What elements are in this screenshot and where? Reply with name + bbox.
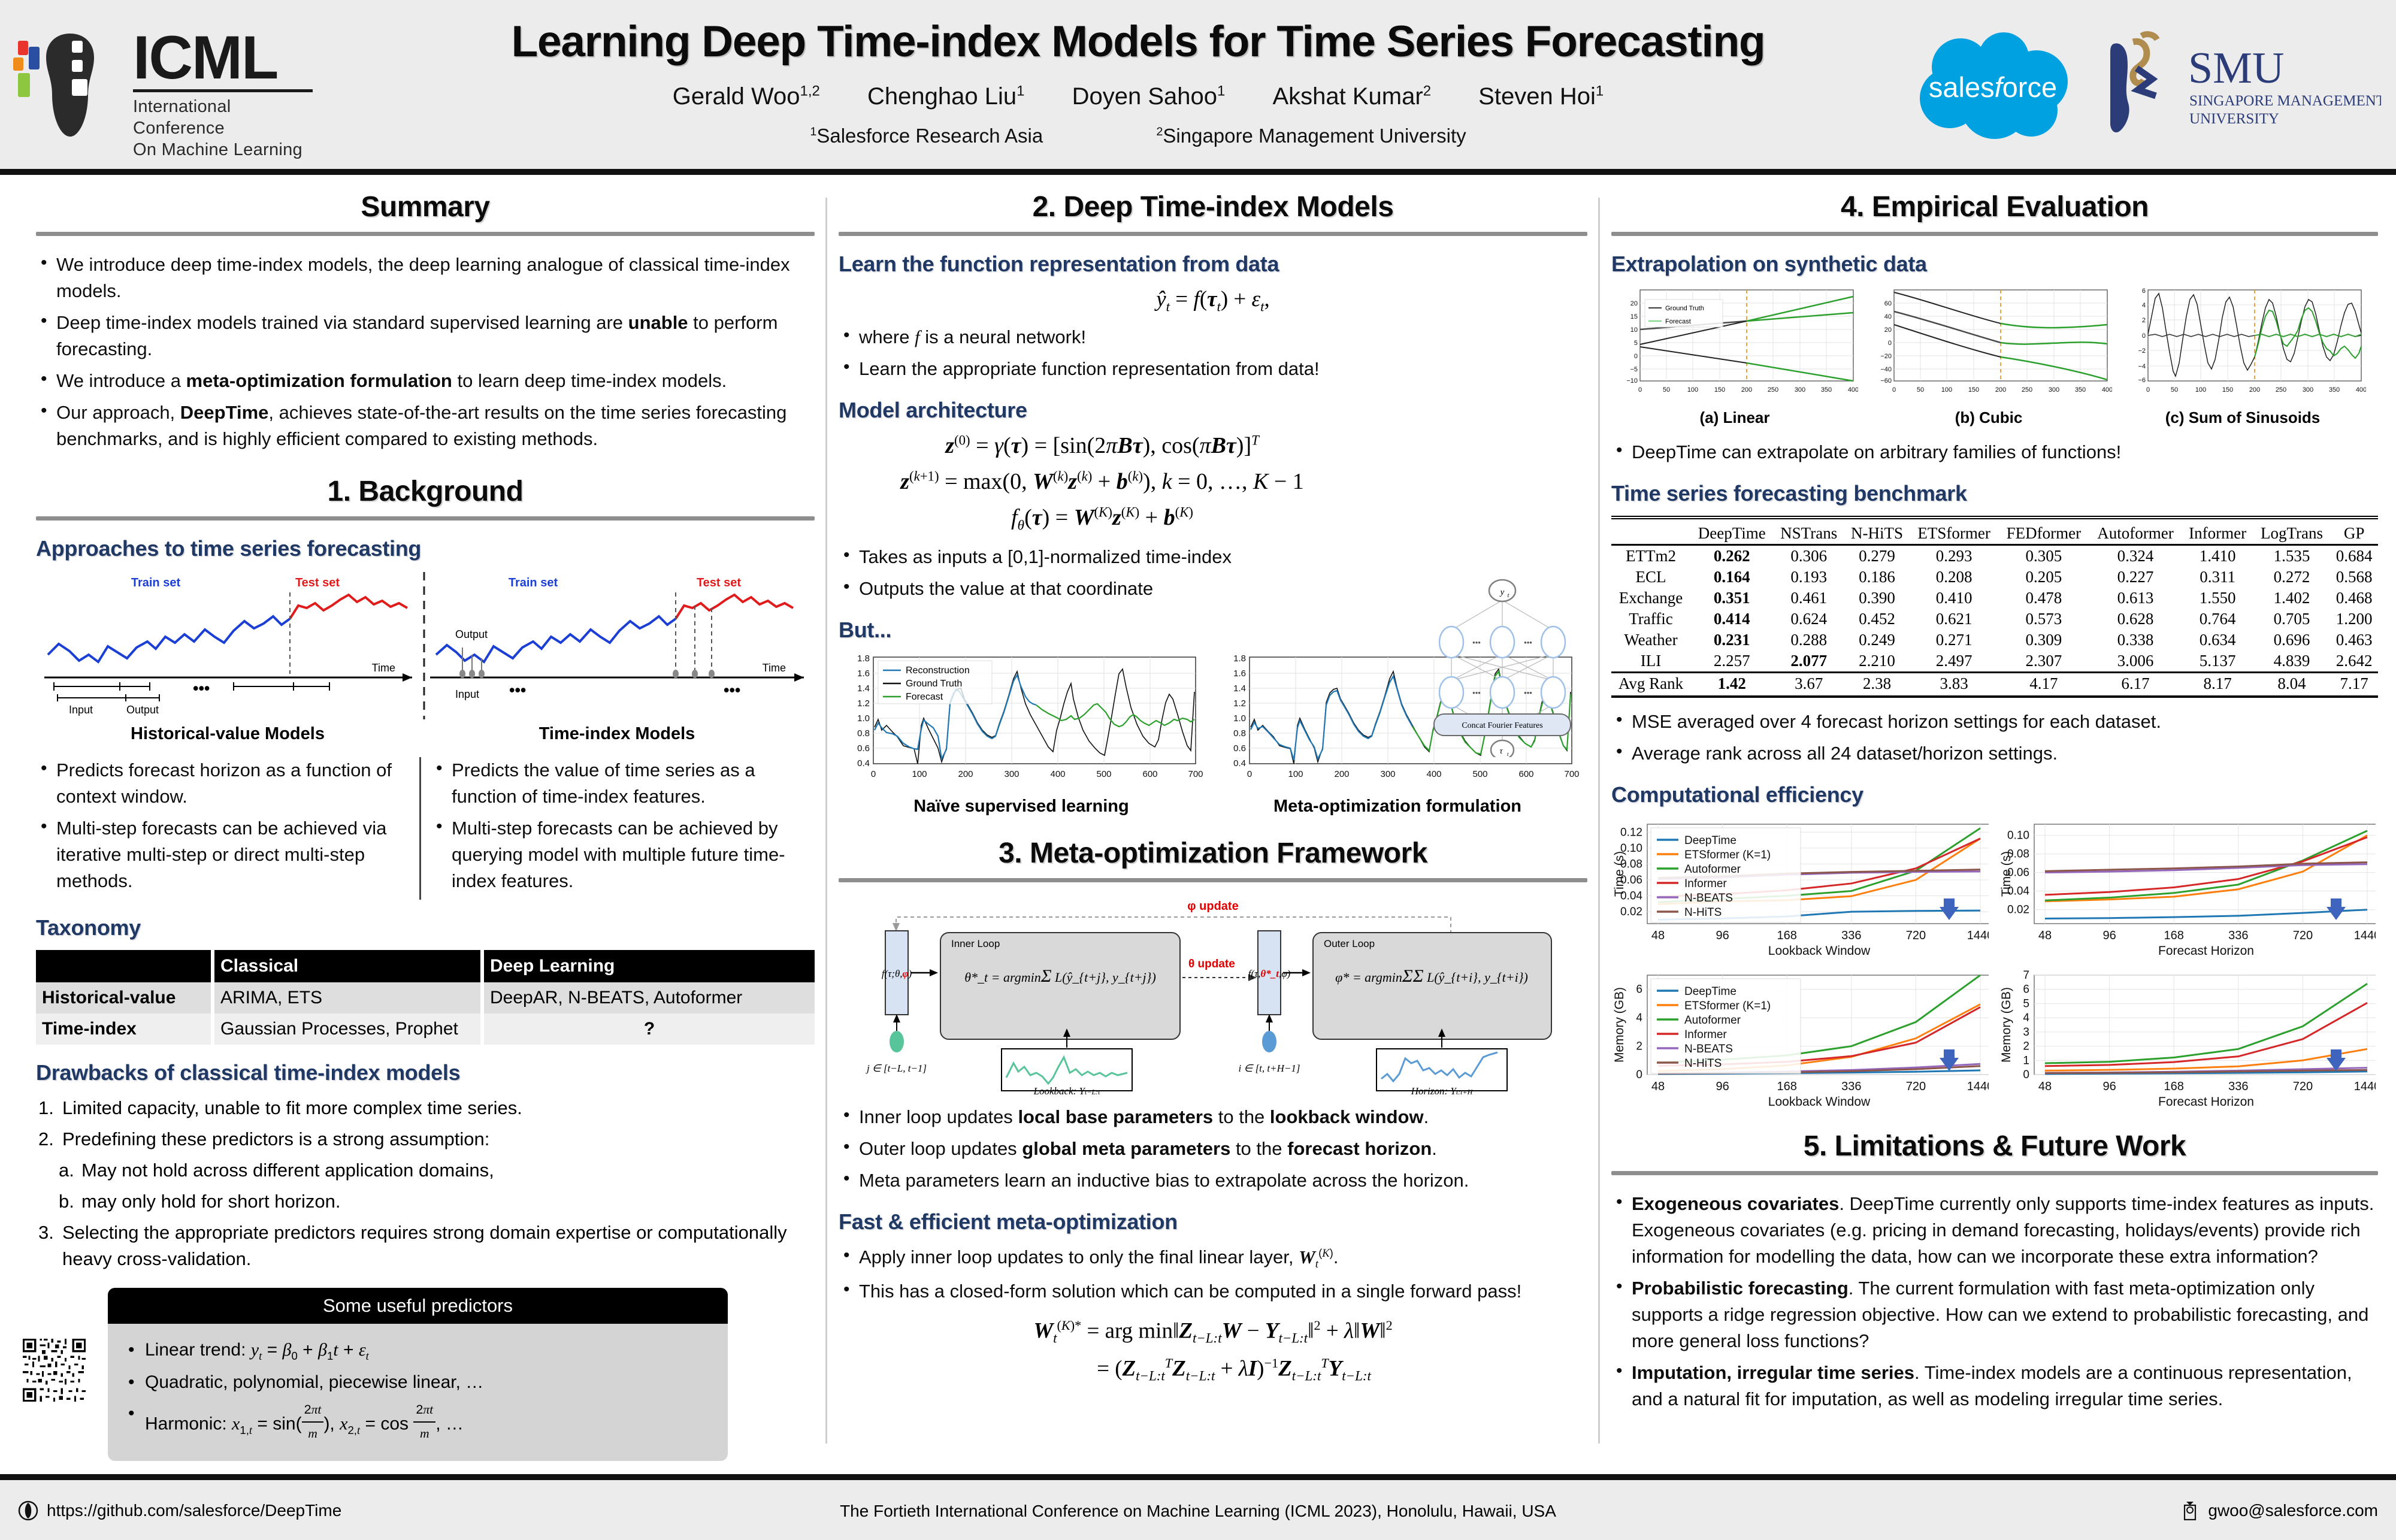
input-label: Input: [455, 688, 479, 700]
svg-text:600: 600: [1518, 769, 1533, 779]
table-row: ETTm20.2620.3060.2790.2930.3050.3241.410…: [1611, 545, 2378, 567]
list-item: Probabilistic forecasting. The current f…: [1611, 1275, 2378, 1354]
svg-text:50: 50: [1917, 386, 1924, 394]
svg-text:1.6: 1.6: [1233, 668, 1246, 679]
svg-text:400: 400: [1848, 386, 1858, 394]
svg-text:−5: −5: [1630, 366, 1638, 373]
column-header: Informer: [2182, 523, 2253, 545]
list-item: 1.Limited capacity, unable to fit more c…: [36, 1095, 815, 1121]
x-axis-label: Forecast Horizon: [2158, 1095, 2254, 1109]
svg-text:500: 500: [1096, 769, 1111, 779]
y-tick-label: 4: [2023, 1012, 2029, 1024]
x-tick-label: 96: [2102, 929, 2116, 942]
equation-zk: z(k+1) = max(0, W(k)z(k) + b(k)), k = 0,…: [839, 468, 1366, 495]
concat-fourier-features-label: Concat Fourier Features: [1462, 721, 1542, 730]
list-item: Quadratic, polynomial, piecewise linear,…: [121, 1367, 715, 1399]
y-tick-label: 6: [1636, 984, 1642, 996]
svg-text:SMU: SMU: [2188, 44, 2284, 93]
legend-forecast: Forecast: [906, 692, 943, 702]
list-item: DeepTime can extrapolate on arbitrary fa…: [1611, 439, 2378, 465]
equation-ftheta: fθ(τ) = W(K)z(K) + b(K): [839, 504, 1366, 534]
svg-text:6: 6: [2142, 288, 2146, 295]
svg-text:0: 0: [1634, 353, 1638, 360]
poster-footer: https://github.com/salesforce/DeepTime T…: [0, 1474, 2396, 1540]
x-tick-label: 96: [1716, 1080, 1729, 1093]
svg-text:20: 20: [1884, 326, 1892, 334]
network-architecture-diagram: y t ••• ••• ••• ••• Concat Fourier Featu…: [1412, 577, 1592, 757]
x-tick-label: 48: [2038, 1080, 2052, 1093]
background-heading: 1. Background: [36, 475, 815, 508]
svg-text:1.0: 1.0: [857, 713, 870, 724]
svg-text:250: 250: [2276, 386, 2286, 394]
svg-text:0.8: 0.8: [1233, 728, 1246, 739]
x-axis-label: Lookback Window: [1768, 944, 1871, 958]
svg-text:0.6: 0.6: [1233, 743, 1246, 754]
svg-text:350: 350: [2329, 386, 2340, 394]
svg-text:250: 250: [2022, 386, 2032, 394]
contact-email[interactable]: gwoo@salesforce.com: [2180, 1500, 2378, 1521]
y-tick-label: 0: [1636, 1069, 1642, 1081]
output-node-label: y: [1499, 588, 1505, 597]
svg-text:5: 5: [1634, 340, 1638, 347]
svg-text:−40: −40: [1880, 366, 1892, 373]
svg-text:−60: −60: [1880, 377, 1892, 385]
x-tick-label: 1440: [1967, 1080, 1989, 1093]
x-tick-label: 720: [2293, 929, 2313, 942]
svg-text:400: 400: [2102, 386, 2112, 394]
output-label: Output: [455, 628, 488, 640]
qr-code-icon[interactable]: [23, 1339, 86, 1402]
ellipsis: •••: [1524, 638, 1532, 647]
taxonomy-table: Classical Deep Learning Historical-value…: [36, 950, 815, 1045]
train-set-label: Train set: [131, 576, 181, 589]
list-item: Multi-step forecasts can be achieved via…: [36, 815, 399, 894]
svg-text:salesforce: salesforce: [1929, 71, 2057, 103]
svg-text:0: 0: [1892, 386, 1896, 394]
svg-text:250: 250: [1768, 386, 1778, 394]
column-left: Summary We introduce deep time-index mod…: [36, 190, 815, 1461]
svg-text:UNIVERSITY: UNIVERSITY: [2189, 111, 2279, 127]
icml-mark-icon: [13, 23, 127, 143]
learn-bullets: where f is a neural network! Learn the a…: [839, 324, 1587, 382]
legend-ground-truth: Ground Truth: [906, 679, 962, 689]
list-item: Multi-step forecasts can be achieved by …: [431, 815, 803, 894]
y-axis-label: Memory (GB): [1999, 987, 2013, 1063]
equation-main: ŷt = f(τt) + εt,: [839, 286, 1587, 314]
author-list: Gerald Woo1,2 Chenghao Liu1 Doyen Sahoo1…: [419, 83, 1857, 110]
y-tick-label: 5: [2023, 997, 2029, 1010]
limitations-rule: [1611, 1171, 2378, 1175]
legend-entry: N-HiTS: [1684, 906, 1722, 919]
legend-reconstruction: Reconstruction: [906, 665, 970, 676]
row-label: Historical-value: [36, 982, 213, 1013]
svg-text:1.0: 1.0: [1233, 713, 1246, 724]
y-tick-label: 2: [2023, 1040, 2029, 1053]
y-tick-label: 7: [2023, 969, 2029, 982]
cell-classical: Gaussian Processes, Prophet: [213, 1013, 482, 1045]
svg-text:200: 200: [2249, 386, 2260, 394]
time-axis-label: Time: [763, 662, 786, 674]
cell-deep: DeepAR, N-BEATS, Autoformer: [482, 982, 815, 1013]
list-item: b.may only hold for short horizon.: [36, 1188, 815, 1215]
y-tick-label: 6: [2023, 984, 2029, 996]
svg-text:700: 700: [1188, 769, 1203, 779]
drawbacks-subtitle: Drawbacks of classical time-index models: [36, 1060, 815, 1085]
svg-text:−4: −4: [2138, 363, 2146, 370]
svg-text:0: 0: [1888, 340, 1892, 347]
drawbacks-list: 1.Limited capacity, unable to fit more c…: [36, 1095, 815, 1272]
cell-classical: ARIMA, ETS: [213, 982, 482, 1013]
svg-text:300: 300: [1795, 386, 1805, 394]
limitations-bullets: Exogeneous covariates. DeepTime currentl…: [1611, 1191, 2378, 1412]
background-rule: [36, 516, 815, 521]
svg-text:200: 200: [1334, 769, 1349, 779]
y-tick-label: 3: [2023, 1026, 2029, 1039]
svg-text:1.4: 1.4: [857, 683, 870, 694]
svg-text:0.4: 0.4: [857, 758, 870, 769]
x-tick-label: 720: [1906, 1080, 1926, 1093]
svg-text:t: t: [1508, 592, 1509, 599]
table-header-row: DeepTimeNSTrans N-HiTSETSformer FEDforme…: [1611, 523, 2378, 545]
affiliation: 1Salesforce Research Asia: [810, 125, 1043, 147]
y-tick-label: 0.12: [1620, 826, 1642, 839]
author: Akshat Kumar2: [1272, 83, 1431, 110]
meta-chart-caption: Meta-optimization formulation: [1215, 797, 1580, 816]
x-tick-label: 168: [1777, 929, 1797, 942]
ellipsis: •••: [724, 681, 740, 699]
salesforce-logo: salesforce: [1914, 26, 2073, 140]
extrap-caption-a: (a) Linear: [1611, 409, 1858, 427]
table-row: Time-index Gaussian Processes, Prophet ?: [36, 1013, 815, 1045]
svg-text:100: 100: [1288, 769, 1303, 779]
column-header: Deep Learning: [482, 950, 815, 982]
svg-text:300: 300: [2303, 386, 2313, 394]
column-header: NSTrans: [1774, 523, 1844, 545]
column-header: DeepTime: [1690, 523, 1774, 545]
list-item: MSE averaged over 4 forecast horizon set…: [1611, 709, 2378, 735]
inner-loop-label: Inner Loop: [951, 938, 1000, 949]
list-item: Inner loop updates local base parameters…: [839, 1104, 1587, 1130]
list-item: Meta parameters learn an inductive bias …: [839, 1167, 1587, 1194]
affiliation-list: 1Salesforce Research Asia 2Singapore Man…: [419, 125, 1857, 147]
svg-text:−6: −6: [2138, 377, 2146, 384]
svg-text:−20: −20: [1880, 353, 1892, 360]
list-item: Average rank across all 24 dataset/horiz…: [1611, 740, 2378, 767]
meta-bullets: Inner loop updates local base parameters…: [839, 1104, 1587, 1194]
svg-text:0: 0: [1247, 769, 1252, 779]
svg-text:−2: −2: [2138, 347, 2146, 355]
naive-supervised-chart: 1.81.61.4 1.21.00.8 0.60.4 0100200 30040…: [839, 652, 1204, 793]
svg-text:1.6: 1.6: [857, 668, 870, 679]
ellipsis: •••: [1472, 638, 1481, 647]
legend-entry: Autoformer: [1684, 863, 1741, 876]
naive-chart-caption: Naïve supervised learning: [839, 797, 1204, 816]
svg-text:4: 4: [2142, 302, 2146, 309]
legend-entry: N-BEATS: [1684, 892, 1733, 904]
svg-text:100: 100: [1687, 386, 1698, 394]
output-label: Output: [126, 704, 159, 716]
ellipsis: •••: [193, 679, 210, 697]
list-item: Predicts forecast horizon as a function …: [36, 757, 399, 810]
row-label: Time-index: [36, 1013, 213, 1045]
benchmark-notes: MSE averaged over 4 forecast horizon set…: [1611, 709, 2378, 767]
phi-update-label: φ update: [1187, 900, 1238, 913]
table-row-footer: Avg Rank1.423.672.383.834.176.178.178.04…: [1611, 673, 2378, 695]
column-header: ETSformer: [1910, 523, 1998, 545]
efficiency-chart-1: 0.020.040.060.080.100.124896168336720144…: [1611, 817, 1989, 960]
extrapolation-subtitle: Extrapolation on synthetic data: [1611, 252, 2378, 277]
learn-representation-subtitle: Learn the function representation from d…: [839, 252, 1587, 277]
list-item: Imputation, irregular time series. Time-…: [1611, 1360, 2378, 1412]
x-tick-label: 1440: [1967, 929, 1989, 942]
column-divider-1: [825, 198, 827, 1444]
svg-text:150: 150: [1968, 386, 1979, 394]
affiliation: 2Singapore Management University: [1156, 125, 1466, 147]
svg-text:SINGAPORE MANAGEMENT: SINGAPORE MANAGEMENT: [2189, 93, 2381, 109]
column-divider-2: [1598, 198, 1600, 1444]
author: Steven Hoi1: [1478, 83, 1604, 110]
y-tick-label: 1: [2023, 1054, 2029, 1067]
benchmark-table-wrap: DeepTimeNSTrans N-HiTSETSformer FEDforme…: [1611, 516, 2378, 698]
svg-text:300: 300: [1380, 769, 1395, 779]
svg-text:100: 100: [912, 769, 927, 779]
x-tick-label: 96: [2102, 1080, 2116, 1093]
list-item: Deep time-index models trained via stand…: [36, 310, 815, 362]
legend-entry: ETSformer (K=1): [1684, 849, 1771, 861]
ellipsis: •••: [1524, 688, 1532, 697]
historical-value-bullets: Predicts forecast horizon as a function …: [36, 757, 399, 894]
list-item: We introduce a meta-optimization formula…: [36, 368, 815, 394]
legend-entry: N-BEATS: [1684, 1043, 1733, 1055]
y-tick-label: 0: [2023, 1069, 2029, 1081]
svg-text:1.4: 1.4: [1233, 683, 1246, 694]
legend-entry: DeepTime: [1684, 985, 1737, 998]
list-item: a.May not hold across different applicat…: [36, 1157, 815, 1184]
svg-text:−10: −10: [1626, 377, 1638, 385]
y-axis-label: Time (s): [1613, 851, 1626, 897]
y-axis-label: Time (s): [1999, 851, 2013, 897]
table-header-row: Classical Deep Learning: [36, 950, 815, 982]
column-header: Autoformer: [2089, 523, 2182, 545]
svg-text:0: 0: [871, 769, 876, 779]
x-tick-label: 336: [2228, 1080, 2248, 1093]
efficiency-chart-4: 0123456748961683367201440Forecast Horizo…: [1998, 968, 2376, 1111]
list-item: Harmonic: x1,t = sin(2πtm), x2,t = cos 2…: [121, 1398, 715, 1445]
svg-text:1.2: 1.2: [857, 698, 870, 709]
svg-text:300: 300: [2049, 386, 2059, 394]
ellipsis: •••: [509, 681, 526, 699]
summary-rule: [36, 232, 815, 236]
x-tick-label: 48: [2038, 929, 2052, 942]
x-tick-label: 720: [2293, 1080, 2313, 1093]
svg-text:1.8: 1.8: [857, 653, 870, 664]
train-set-label: Train set: [509, 576, 558, 589]
column-header: [36, 950, 213, 982]
cell-deep: ?: [482, 1013, 815, 1045]
ellipsis: •••: [1472, 688, 1481, 697]
list-item: Predicts the value of time series as a f…: [431, 757, 803, 810]
list-item: 2.Predefining these predictors is a stro…: [36, 1126, 815, 1152]
svg-text:700: 700: [1564, 769, 1579, 779]
icml-logo: ICML International Conference On Machine…: [13, 23, 325, 152]
svg-text:20: 20: [1630, 300, 1638, 307]
svg-text:150: 150: [1714, 386, 1725, 394]
svg-text:1.2: 1.2: [1233, 698, 1246, 709]
poster-root: ICML International Conference On Machine…: [0, 0, 2396, 1540]
svg-text:400: 400: [1050, 769, 1065, 779]
poster-header: ICML International Conference On Machine…: [0, 0, 2396, 175]
limitations-heading: 5. Limitations & Future Work: [1611, 1130, 2378, 1163]
x-tick-label: 48: [1651, 1080, 1665, 1093]
legend-entry: N-HiTS: [1684, 1057, 1722, 1070]
extrapolation-charts: 201510 50−5−10 050100150 200250300 35040…: [1611, 286, 2378, 427]
email-text: gwoo@salesforce.com: [2208, 1501, 2378, 1520]
svg-text:60: 60: [1884, 300, 1892, 307]
predictors-box-title: Some useful predictors: [108, 1288, 728, 1324]
extrapolation-cubic-chart: 604020 0−20−40−60 050100150 200250300 35…: [1865, 286, 2112, 405]
svg-text:100: 100: [1941, 386, 1952, 394]
time-axis-label: Time: [372, 662, 395, 674]
y-axis-label: Memory (GB): [1613, 987, 1626, 1063]
svg-text:350: 350: [1821, 386, 1832, 394]
list-item: where f is a neural network!: [839, 324, 1587, 350]
y-tick-label: 4: [1636, 1012, 1642, 1024]
svg-text:2: 2: [2142, 317, 2146, 324]
svg-text:f(τ,θ*_t,φ): f(τ,θ*_t,φ): [1248, 968, 1291, 979]
table-row: ILI2.2572.0772.2102.4972.3073.0065.1374.…: [1611, 651, 2378, 673]
extrap-caption-b: (b) Cubic: [1865, 409, 2112, 427]
x-tick-label: 168: [1777, 1080, 1797, 1093]
x-tick-label: 720: [1906, 929, 1926, 942]
x-tick-label: 336: [2228, 929, 2248, 942]
column-middle: 2. Deep Time-index Models Learn the func…: [839, 190, 1587, 1394]
extrap-caption-c: (c) Sum of Sinusoids: [2119, 409, 2366, 427]
empirical-heading: 4. Empirical Evaluation: [1611, 190, 2378, 223]
title-block: Learning Deep Time-index Models for Time…: [419, 17, 1857, 147]
svg-text:200: 200: [1995, 386, 2006, 394]
fast-meta-subtitle: Fast & efficient meta-optimization: [839, 1209, 1587, 1235]
benchmark-table: DeepTimeNSTrans N-HiTSETSformer FEDforme…: [1611, 523, 2378, 694]
x-tick-label: 96: [1716, 929, 1729, 942]
benchmark-subtitle: Time series forecasting benchmark: [1611, 481, 2378, 506]
svg-text:0: 0: [2142, 332, 2146, 340]
icml-wordmark: ICML: [133, 29, 325, 87]
deep-models-rule: [839, 232, 1587, 236]
svg-text:0.8: 0.8: [857, 728, 870, 739]
x-tick-label: 48: [1651, 929, 1665, 942]
column-header: N-HiTS: [1844, 523, 1910, 545]
list-item: This has a closed-form solution which ca…: [839, 1278, 1587, 1305]
y-tick-label: 0.02: [1620, 906, 1642, 918]
svg-text:400: 400: [1426, 769, 1441, 779]
table-row: Weather0.2310.2880.2490.2710.3090.3380.6…: [1611, 630, 2378, 651]
author: Chenghao Liu1: [867, 83, 1024, 110]
svg-text:0.4: 0.4: [1233, 758, 1246, 769]
table-row: ECL0.1640.1930.1860.2080.2050.2270.3110.…: [1611, 567, 2378, 588]
y-tick-label: 0.02: [2007, 904, 2029, 916]
theta-update-label: θ update: [1188, 958, 1235, 970]
x-axis-label: Forecast Horizon: [2158, 944, 2254, 958]
column-header: FEDformer: [1998, 523, 2089, 545]
list-item: Linear trend: yt = β0 + β1t + εt: [121, 1335, 715, 1367]
list-item: Outputs the value at that coordinate: [839, 576, 1366, 602]
x-tick-label: 168: [2164, 929, 2184, 942]
list-item: Learn the appropriate function represent…: [839, 356, 1587, 382]
outer-loop-label: Outer Loop: [1324, 938, 1375, 949]
svg-text:10: 10: [1630, 326, 1638, 334]
table-row: Traffic0.4140.6240.4520.6210.5730.6280.7…: [1611, 609, 2378, 630]
taxonomy-subtitle: Taxonomy: [36, 915, 815, 940]
list-item: Exogeneous covariates. DeepTime currentl…: [1611, 1191, 2378, 1270]
poster-title: Learning Deep Time-index Models for Time…: [419, 17, 1857, 66]
legend-entry: DeepTime: [1684, 834, 1737, 847]
x-tick-label: 336: [1841, 1080, 1861, 1093]
time-index-caption: Time-index Models: [419, 724, 815, 744]
x-tick-label: 168: [2164, 1080, 2184, 1093]
test-set-label: Test set: [295, 576, 340, 589]
equation-closed-form-1: Wt(K)* = arg min‖Zt−L:tW − Yt−L:t‖2 + λ‖…: [839, 1318, 1587, 1347]
svg-text:0: 0: [1638, 386, 1642, 394]
historical-value-caption: Historical-value Models: [36, 724, 419, 744]
author: Doyen Sahoo1: [1072, 83, 1226, 110]
legend-ground-truth: Ground Truth: [1665, 305, 1704, 312]
j-range-label: j ∈ [t−L, t−1]: [866, 1063, 927, 1074]
i-range-label: i ∈ [t, t+H−1]: [1239, 1063, 1300, 1074]
legend-entry: Autoformer: [1684, 1014, 1741, 1027]
extrapolation-bullets: DeepTime can extrapolate on arbitrary fa…: [1611, 439, 2378, 465]
efficiency-chart-2: 0.020.040.060.080.1048961683367201440For…: [1998, 817, 2376, 960]
email-icon: [2180, 1500, 2200, 1521]
efficiency-subtitle: Computational efficiency: [1611, 782, 2378, 807]
legend-entry: Informer: [1684, 1028, 1727, 1041]
legend-entry: Informer: [1684, 878, 1727, 890]
y-tick-label: 0.10: [2007, 830, 2029, 842]
meta-rule: [839, 878, 1587, 882]
fast-meta-bullets: Apply inner loop updates to only the fin…: [839, 1244, 1587, 1304]
conference-info: The Fortieth International Conference on…: [0, 1502, 2396, 1521]
x-axis-label: Lookback Window: [1768, 1095, 1871, 1109]
equation-closed-form-2: = (Zt−L:tTZt−L:t + λI)−1Zt−L:tTYt−L:t: [839, 1356, 1587, 1384]
empirical-rule: [1611, 232, 2378, 236]
y-tick-label: 2: [1636, 1040, 1642, 1053]
svg-text:1.8: 1.8: [1233, 653, 1246, 664]
table-row: Historical-value ARIMA, ETS DeepAR, N-BE…: [36, 982, 815, 1013]
svg-text:200: 200: [958, 769, 973, 779]
approaches-subtitle: Approaches to time series forecasting: [36, 536, 815, 561]
svg-text:600: 600: [1142, 769, 1157, 779]
table-row: Exchange0.3510.4610.3900.4100.4780.6131.…: [1611, 588, 2378, 609]
list-item: Outer loop updates global meta parameter…: [839, 1136, 1587, 1162]
column-header: Classical: [213, 950, 482, 982]
svg-text:200: 200: [1741, 386, 1752, 394]
list-item: Our approach, DeepTime, achieves state-o…: [36, 400, 815, 452]
list-item: We introduce deep time-index models, the…: [36, 252, 815, 304]
list-item: Apply inner loop updates to only the fin…: [839, 1244, 1587, 1272]
smu-logo: SMU SINGAPORE MANAGEMENT UNIVERSITY: [2099, 31, 2381, 139]
efficiency-chart-3: 024648961683367201440Lookback WindowMemo…: [1611, 968, 1989, 1111]
svg-text:350: 350: [2075, 386, 2086, 394]
legend-forecast: Forecast: [1665, 318, 1691, 325]
svg-text:40: 40: [1884, 313, 1892, 320]
author: Gerald Woo1,2: [673, 83, 820, 110]
forecasting-approaches-figure: Train set Test set Time ••• Input Output…: [36, 571, 815, 721]
useful-predictors-box: Some useful predictors Linear trend: yt …: [108, 1288, 728, 1461]
summary-heading: Summary: [36, 190, 815, 223]
svg-text:300: 300: [1004, 769, 1019, 779]
x-tick-label: 1440: [2354, 929, 2376, 942]
test-set-label: Test set: [697, 576, 741, 589]
architecture-bullets: Takes as inputs a [0,1]-normalized time-…: [839, 544, 1366, 602]
